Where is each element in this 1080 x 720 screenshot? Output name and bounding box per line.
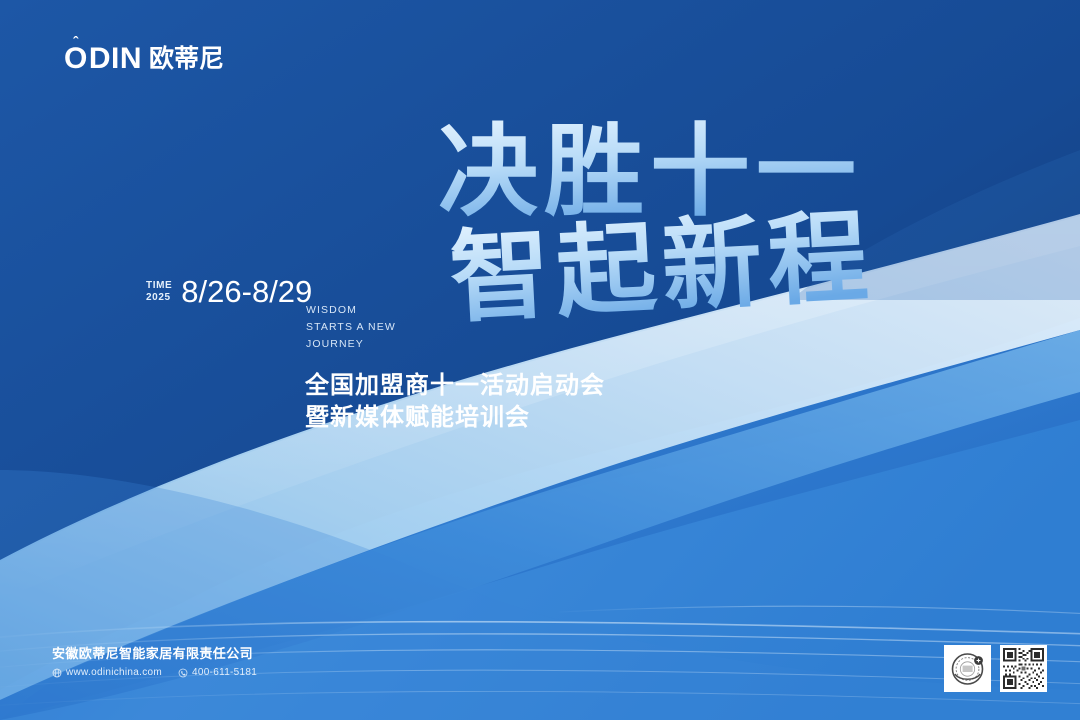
footer: 安徽欧蒂尼智能家居有限责任公司 www.odinichina.com 400-6… [52, 645, 257, 678]
code-tiles [944, 645, 1047, 692]
phone-contact: 400-611-5181 [178, 667, 257, 678]
company-name: 安徽欧蒂尼智能家居有限责任公司 [52, 645, 257, 662]
phone-text: 400-611-5181 [192, 667, 257, 678]
brand-logo-accent: ˆ [73, 35, 78, 50]
official-seal-badge[interactable] [944, 645, 991, 692]
contact-row: www.odinichina.com 400-611-5181 [52, 667, 257, 678]
headline-calligraphy: 决胜十一 智起新程 [430, 108, 930, 348]
website-text: www.odinichina.com [66, 667, 162, 678]
wechat-qr-code[interactable] [1000, 645, 1047, 692]
website-contact: www.odinichina.com [52, 667, 162, 678]
date-label: TIME 2025 [146, 280, 172, 304]
date-range: 8/26-8/29 [181, 276, 312, 307]
event-poster: ˆ O DIN 欧蒂尼 决胜十一 智起新程 TIME 2025 8/26-8/2… [0, 0, 1080, 720]
brand-name-cn: 欧蒂尼 [149, 47, 224, 72]
qr-code-icon [1003, 648, 1044, 689]
phone-icon [178, 668, 188, 678]
tagline-line-3: JOURNEY [306, 336, 396, 353]
brand-logo: ˆ O DIN 欧蒂尼 [64, 44, 224, 74]
brand-logo-mark: ˆ O [64, 44, 87, 74]
brand-name-en: DIN [89, 44, 142, 74]
tagline-line-2: STARTS A NEW [306, 319, 396, 336]
subtitle-line-1: 全国加盟商十一活动启动会 [305, 370, 605, 402]
headline-line-2: 智起新程 [447, 197, 877, 337]
english-tagline: WISDOM STARTS A NEW JOURNEY [306, 302, 396, 353]
date-label-time: TIME [146, 280, 172, 292]
event-subtitle: 全国加盟商十一活动启动会 暨新媒体赋能培训会 [305, 370, 605, 434]
subtitle-line-2: 暨新媒体赋能培训会 [305, 402, 605, 434]
event-date-block: TIME 2025 8/26-8/29 [146, 276, 312, 307]
globe-icon [52, 668, 62, 678]
tagline-line-1: WISDOM [306, 302, 396, 319]
seal-icon [947, 648, 988, 689]
date-label-year: 2025 [146, 292, 172, 304]
